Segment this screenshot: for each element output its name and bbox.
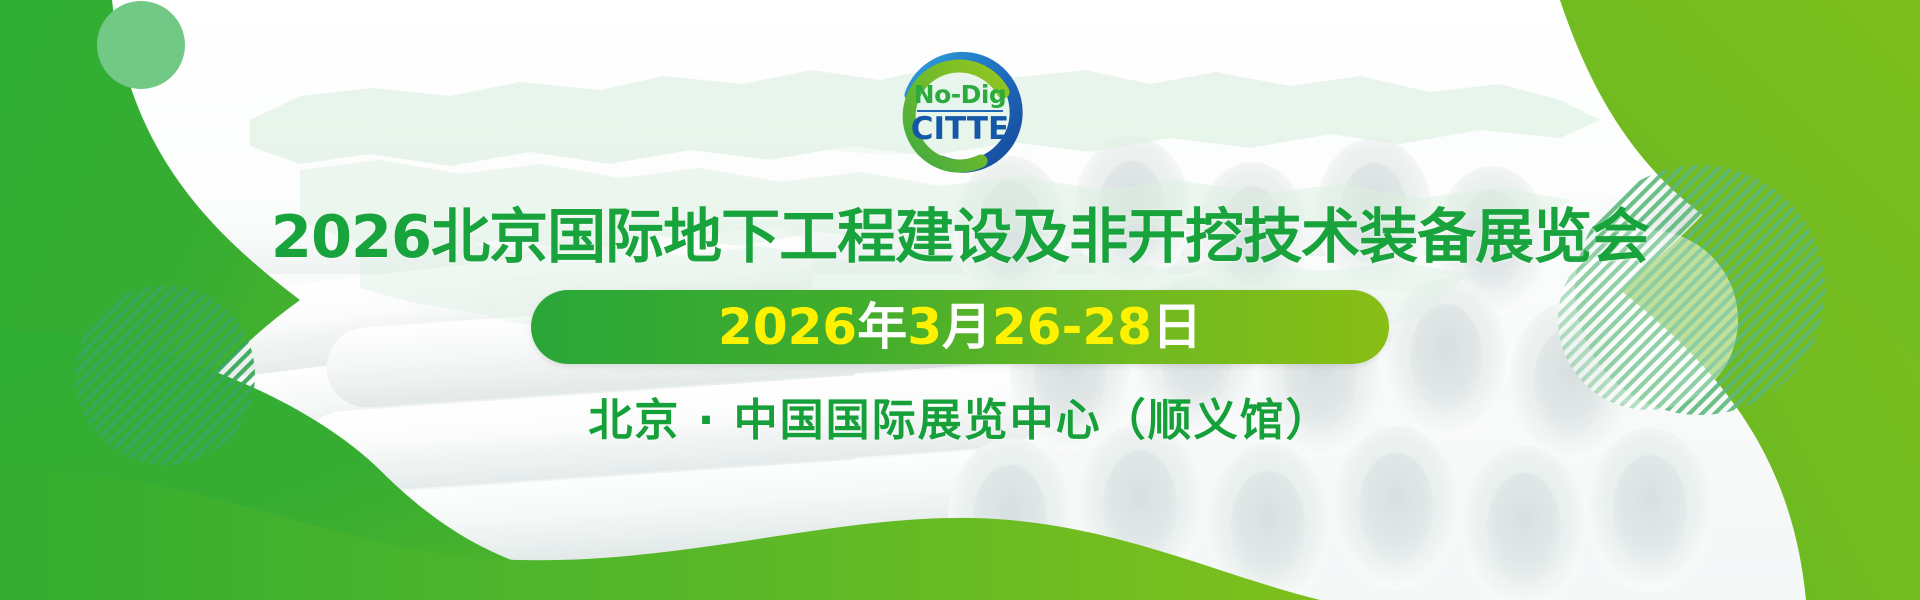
event-banner: No-Dig CITTE 2026北京国际地下工程建设及非开挖技术装备展览会 2…: [0, 0, 1920, 600]
event-date-badge: 2026 年 3 月 26-28 日: [531, 290, 1389, 364]
top-left-circle: [97, 1, 185, 89]
date-day-range: 26-28: [992, 302, 1152, 352]
date-month-number: 3: [907, 302, 942, 352]
date-day-label: 日: [1152, 302, 1202, 352]
date-year-label: 年: [857, 302, 907, 352]
logo-nodig-text: No-Dig: [914, 82, 1007, 107]
no-dig-citte-logo: No-Dig CITTE: [885, 38, 1035, 188]
event-title: 2026北京国际地下工程建设及非开挖技术装备展览会: [271, 206, 1649, 268]
logo-citte-text: CITTE: [911, 114, 1009, 145]
date-year-number: 2026: [718, 302, 857, 352]
date-month-label: 月: [942, 302, 992, 352]
event-venue: 北京 · 中国国际展览中心（顺义馆）: [588, 384, 1331, 448]
left-hatch-circle: [75, 285, 255, 465]
